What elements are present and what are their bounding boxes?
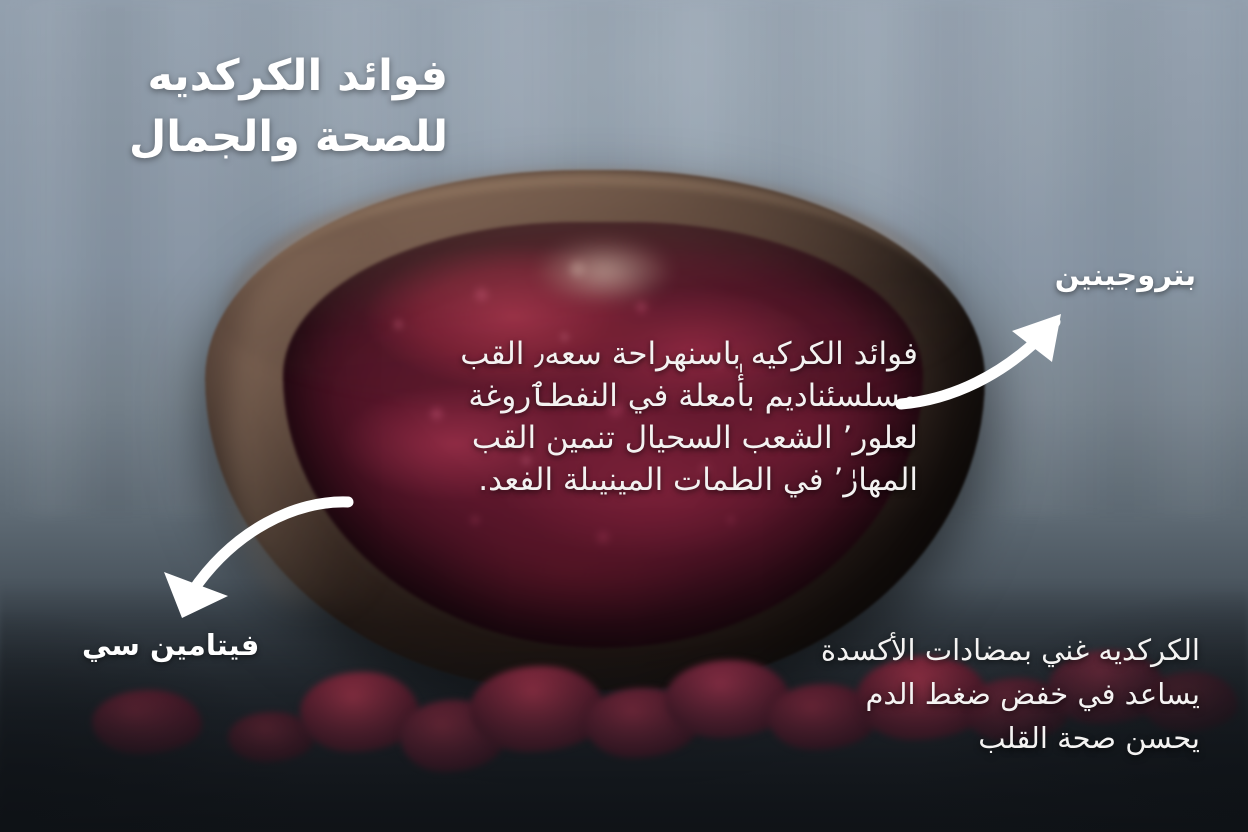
callout-label-anthocyanin: بتروجينين <box>1055 258 1196 292</box>
title-line-2: للصحة والجمال <box>0 107 448 168</box>
benefit-line-3: يحسن صحة القلب <box>580 716 1200 760</box>
body-line-1: فوائد الكركيه باسنهراحة سعه٫ القب <box>318 333 918 375</box>
benefit-line-2: يساعد في خفض ضغط الدم <box>580 672 1200 716</box>
body-line-2: مسلسئناديم بأٰمعلة في النفطٱروغة <box>318 375 918 417</box>
title-line-1: فوائد الكركديه <box>0 46 448 107</box>
callout-label-vitamin-c: فيتامين سي <box>82 628 259 662</box>
benefit-line-1: الكركديه غني بمضادات الأكسدة <box>580 628 1200 672</box>
page-title: فوائد الكركديه للصحة والجمال <box>0 46 448 168</box>
benefits-list: الكركديه غني بمضادات الأكسدة يساعد في خف… <box>580 628 1200 760</box>
body-line-3: لعلور٬ الشعب السحيال تنمين القب <box>318 417 918 459</box>
body-paragraph: فوائد الكركيه باسنهراحة سعه٫ القب مسلسئن… <box>318 333 918 502</box>
infographic-poster: فوائد الكركديه للصحة والجمال فوائد الكرك… <box>0 0 1248 832</box>
body-line-4: المهارٰ٬ في الطمات المينيىلة الفعد. <box>318 459 918 501</box>
bowl-rim-edge <box>228 175 961 331</box>
scattered-petal <box>92 690 202 754</box>
